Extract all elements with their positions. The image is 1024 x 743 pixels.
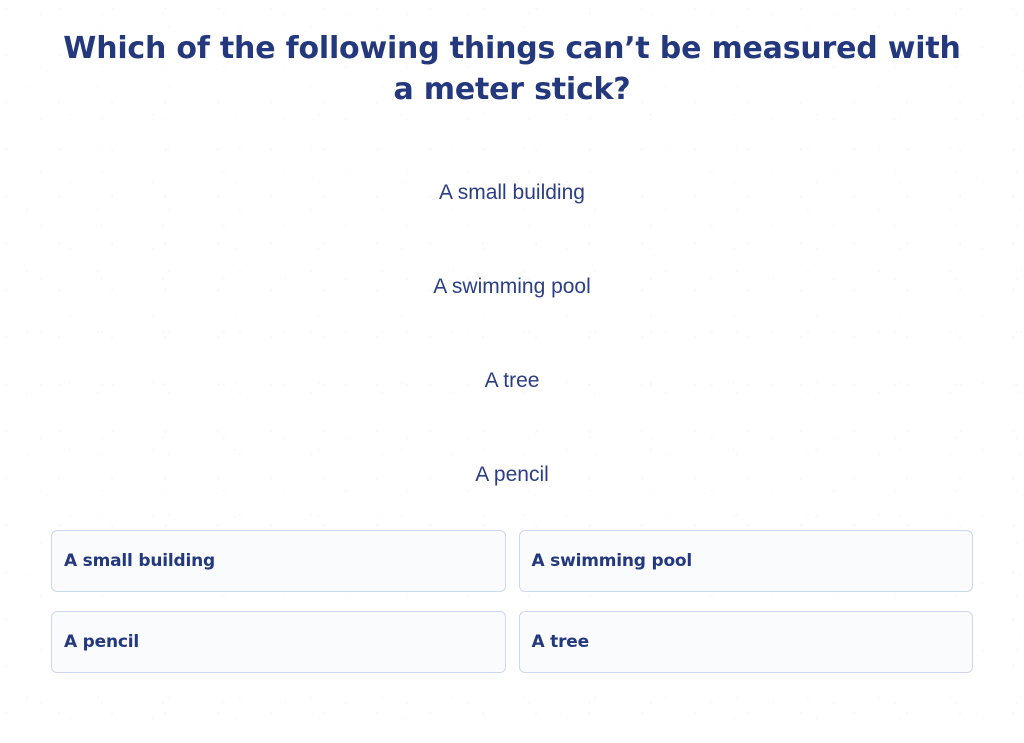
answer-choice-a-pencil[interactable]: A pencil: [51, 611, 506, 673]
answer-choice-label: A pencil: [64, 632, 139, 652]
option-list: A small building A swimming pool A tree …: [0, 146, 1024, 522]
list-item: A swimming pool: [0, 240, 1024, 334]
answer-choice-label: A tree: [532, 632, 589, 652]
answer-choice-label: A swimming pool: [532, 551, 693, 571]
quiz-page: Which of the following things can’t be m…: [0, 0, 1024, 743]
answer-choice-label: A small building: [64, 551, 215, 571]
answer-choice-grid: A small building A swimming pool A penci…: [0, 530, 1024, 673]
list-item: A pencil: [0, 428, 1024, 522]
answer-choice-a-small-building[interactable]: A small building: [51, 530, 506, 592]
answer-choice-a-tree[interactable]: A tree: [519, 611, 974, 673]
list-item: A small building: [0, 146, 1024, 240]
list-item: A tree: [0, 334, 1024, 428]
answer-choice-a-swimming-pool[interactable]: A swimming pool: [519, 530, 974, 592]
page-title: Which of the following things can’t be m…: [0, 0, 1024, 110]
